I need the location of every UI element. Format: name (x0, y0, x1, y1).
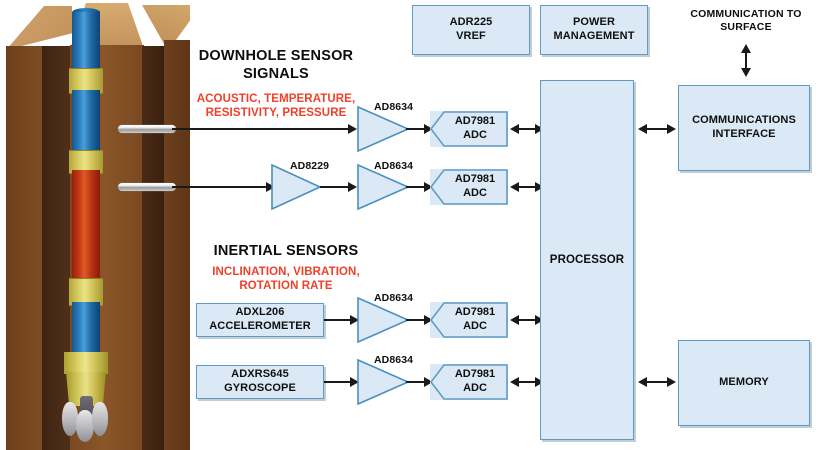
adc1-label: ADC (463, 129, 487, 141)
block-communications-interface[interactable]: COMMUNICATIONS INTERFACE (678, 85, 810, 171)
comms-surface-line1: COMMUNICATION (690, 8, 783, 20)
communication-to-surface-caption: COMMUNICATION TO SURFACE (678, 8, 814, 34)
block-memory[interactable]: MEMORY (678, 340, 810, 426)
drill-bit-cone-right (92, 402, 108, 436)
drill-pipe-segment-3 (72, 302, 100, 356)
adc3-label: ADC (463, 320, 487, 332)
block-adr225-vref[interactable]: ADR225 VREF (412, 5, 530, 55)
adc-block-3[interactable]: AD7981 ADC (430, 302, 508, 338)
sensor-lead-tube-2 (118, 183, 176, 191)
block-processor[interactable]: PROCESSOR (540, 80, 634, 440)
comms-block-line1: COMMUNICATIONS (692, 114, 796, 128)
accelerometer-output-line (324, 319, 352, 321)
processor-comms-line (645, 128, 669, 130)
amp-ad8634-2-label: AD8634 (374, 160, 413, 172)
rock-top-face-left (6, 6, 72, 50)
amp-ad8229-label: AD8229 (290, 160, 329, 172)
drill-pipe-segment-1 (72, 12, 100, 72)
adc-block-2[interactable]: AD7981 ADC (430, 169, 508, 205)
block-power-management[interactable]: POWER MANAGEMENT (540, 5, 648, 55)
accelerometer-label: ACCELEROMETER (209, 320, 311, 334)
power-label-line2: MANAGEMENT (553, 30, 634, 44)
downhole-heading-line2: SIGNALS (243, 66, 309, 82)
sensor-signal-line-2 (172, 186, 268, 188)
rock-wall-left-outer (6, 46, 42, 450)
borehole-illustration (0, 0, 190, 450)
processor-comms-arrow-right (667, 124, 676, 134)
power-label-line1: POWER (553, 16, 634, 30)
downhole-subtitle-line1: ACOUSTIC, TEMPERATURE, (197, 93, 356, 105)
amp-ad8634-1-label: AD8634 (374, 101, 413, 113)
sensor-block-accelerometer[interactable]: ADXL206 ACCELEROMETER (196, 303, 324, 337)
amp-ad8634-3-label: AD8634 (374, 292, 413, 304)
memory-label: MEMORY (719, 376, 769, 390)
amp-ad8634-4-label: AD8634 (374, 354, 413, 366)
comms-surface-arrow-down (741, 68, 751, 77)
ad8229-output-line (320, 186, 350, 188)
adc2-part-number: AD7981 (455, 173, 495, 185)
inertial-subtitle-line1: INCLINATION, VIBRATION, (212, 266, 360, 278)
sensor-block-gyroscope[interactable]: ADXRS645 GYROSCOPE (196, 365, 324, 399)
adc4-label: ADC (463, 382, 487, 394)
gyroscope-label: GYROSCOPE (224, 382, 296, 396)
block-diagram-canvas: DOWNHOLE SENSOR SIGNALS ACOUSTIC, TEMPER… (0, 0, 819, 450)
downhole-section-heading: DOWNHOLE SENSOR SIGNALS (178, 48, 374, 83)
adc1-part-number: AD7981 (455, 115, 495, 127)
drill-bit-shoulder (64, 352, 108, 374)
adc4-part-number: AD7981 (455, 368, 495, 380)
downhole-section-subtitle: ACOUSTIC, TEMPERATURE, RESISTIVITY, PRES… (178, 92, 374, 120)
adc-block-1[interactable]: AD7981 ADC (430, 111, 508, 147)
drill-pipe-red (72, 170, 100, 280)
rock-wall-left-inner (42, 46, 71, 450)
rock-wall-right-inner (142, 46, 164, 450)
processor-memory-line (645, 381, 669, 383)
accelerometer-part-number: ADXL206 (209, 306, 311, 320)
adc3-part-number: AD7981 (455, 306, 495, 318)
comms-surface-line (745, 50, 747, 70)
inertial-heading-line1: INERTIAL SENSORS (214, 243, 359, 259)
inertial-subtitle-line2: ROTATION RATE (239, 280, 332, 292)
sensor-lead-tube-1 (118, 125, 176, 133)
downhole-heading-line1: DOWNHOLE SENSOR (199, 48, 353, 64)
gyroscope-output-line (324, 381, 352, 383)
adc2-label: ADC (463, 187, 487, 199)
inertial-section-heading: INERTIAL SENSORS (186, 243, 386, 261)
comms-block-line2: INTERFACE (692, 128, 796, 142)
gyroscope-part-number: ADXRS645 (224, 368, 296, 382)
vref-part-number: ADR225 (450, 16, 493, 30)
downhole-subtitle-line2: RESISTIVITY, PRESSURE (206, 107, 347, 119)
processor-memory-arrow-right (667, 377, 676, 387)
drill-pipe-segment-2 (72, 90, 100, 152)
adc-block-4[interactable]: AD7981 ADC (430, 364, 508, 400)
processor-label: PROCESSOR (550, 253, 624, 267)
inertial-section-subtitle: INCLINATION, VIBRATION, ROTATION RATE (186, 265, 386, 293)
sensor-signal-line-1 (172, 128, 350, 130)
vref-label: VREF (450, 30, 493, 44)
